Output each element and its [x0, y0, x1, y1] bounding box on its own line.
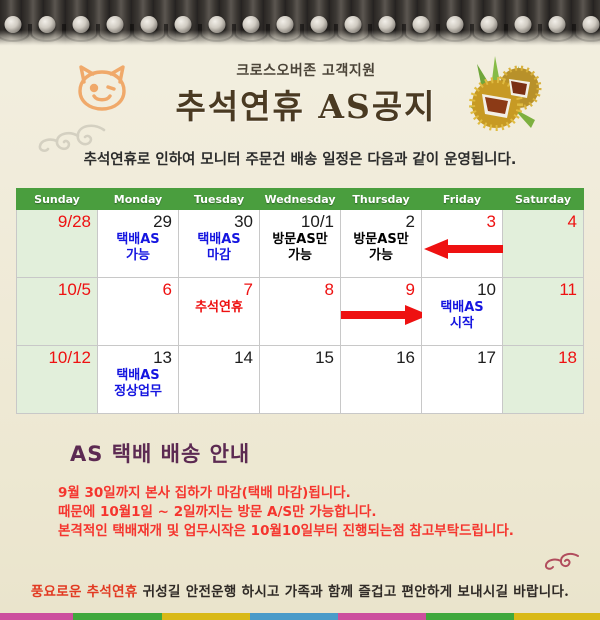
- calendar-day-cell[interactable]: 10/5: [17, 278, 98, 346]
- calendar-header-row: SundayMondayTuesdayWednesdayThursdayFrid…: [17, 189, 584, 210]
- calendar-day-cell[interactable]: 4: [503, 210, 584, 278]
- calendar-day-cell[interactable]: 2방문AS만가능: [341, 210, 422, 278]
- calendar-day-note: 마감: [185, 248, 253, 264]
- calendar-day-cell[interactable]: 13택배AS정상업무: [98, 346, 179, 414]
- calendar-day-cell[interactable]: 9/28: [17, 210, 98, 278]
- calendar-day-number: 17: [428, 348, 496, 368]
- calendar-week-row: 9/2829택배AS가능30택배AS마감10/1방문AS만가능2방문AS만가능3…: [17, 210, 584, 278]
- color-bar-segment: [426, 613, 514, 620]
- calendar-day-number: 6: [104, 280, 172, 300]
- calendar-day-number: 2: [347, 212, 415, 232]
- calendar-day-note: 시작: [428, 316, 496, 332]
- notice-heading: AS 택배 배송 안내: [70, 438, 250, 468]
- calendar-day-cell[interactable]: 16: [341, 346, 422, 414]
- calendar-day-number: 9: [347, 280, 415, 300]
- notice-line: 때문에 10월1일 ~ 2일까지는 방문 A/S만 가능합니다.: [58, 503, 578, 522]
- korean-roof-tiles-banner: [0, 0, 600, 46]
- calendar-day-note: 택배AS: [428, 300, 496, 316]
- calendar-day-number: 14: [185, 348, 253, 368]
- holiday-calendar: SundayMondayTuesdayWednesdayThursdayFrid…: [16, 188, 584, 414]
- calendar-day-cell[interactable]: 9: [341, 278, 422, 346]
- notice-line: 본격적인 택배재개 및 업무시작은 10월10일부터 진행되는점 참고부탁드립니…: [58, 522, 578, 541]
- calendar-day-note: 택배AS: [104, 368, 172, 384]
- calendar-day-note: 택배AS: [104, 232, 172, 248]
- calendar-table: SundayMondayTuesdayWednesdayThursdayFrid…: [16, 188, 584, 414]
- calendar-col-header-thursday: Thursday: [341, 189, 422, 210]
- calendar-day-number: 10/5: [23, 280, 91, 300]
- calendar-day-cell[interactable]: 14: [179, 346, 260, 414]
- intro-sentence: 추석연휴로 인하여 모니터 주문건 배송 일정은 다음과 같이 운영됩니다.: [0, 148, 600, 169]
- calendar-day-note: 추석연휴: [185, 300, 253, 316]
- notice-body: 9월 30일까지 본사 집하가 마감(택배 마감)됩니다.때문에 10월1일 ~…: [58, 484, 578, 541]
- page-title: 추석연휴 AS공지: [0, 80, 600, 128]
- calendar-day-number: 11: [509, 280, 577, 300]
- calendar-day-number: 30: [185, 212, 253, 232]
- arrow-left-icon: [422, 238, 502, 248]
- color-bar-segment: [250, 613, 338, 620]
- calendar-day-number: 13: [104, 348, 172, 368]
- calendar-col-header-friday: Friday: [422, 189, 503, 210]
- calendar-day-note: 방문AS만: [266, 232, 334, 248]
- calendar-day-cell[interactable]: 8: [260, 278, 341, 346]
- color-bar-segment: [73, 613, 162, 620]
- calendar-day-cell[interactable]: 3: [422, 210, 503, 278]
- footer-color-bar: [0, 613, 600, 620]
- color-bar-segment: [162, 613, 250, 620]
- calendar-day-cell[interactable]: 18: [503, 346, 584, 414]
- calendar-day-cell[interactable]: 10/1방문AS만가능: [260, 210, 341, 278]
- calendar-day-number: 3: [428, 212, 496, 232]
- roof-bottom-fade: [0, 30, 600, 46]
- page-header: 크로스오버존 고객지원 추석연휴 AS공지: [0, 46, 600, 148]
- calendar-day-cell[interactable]: 7추석연휴: [179, 278, 260, 346]
- header-subtitle: 크로스오버존 고객지원: [0, 60, 600, 80]
- calendar-day-note: 가능: [104, 248, 172, 264]
- calendar-day-cell[interactable]: 17: [422, 346, 503, 414]
- calendar-body: 9/2829택배AS가능30택배AS마감10/1방문AS만가능2방문AS만가능3…: [17, 210, 584, 414]
- color-bar-segment: [0, 613, 73, 620]
- calendar-day-cell[interactable]: 10/12: [17, 346, 98, 414]
- calendar-col-header-wednesday: Wednesday: [260, 189, 341, 210]
- calendar-day-cell[interactable]: 15: [260, 346, 341, 414]
- calendar-week-row: 10/1213택배AS정상업무1415161718: [17, 346, 584, 414]
- calendar-col-header-sunday: Sunday: [17, 189, 98, 210]
- calendar-day-number: 10: [428, 280, 496, 300]
- calendar-col-header-saturday: Saturday: [503, 189, 584, 210]
- calendar-day-cell[interactable]: 30택배AS마감: [179, 210, 260, 278]
- calendar-day-number: 8: [266, 280, 334, 300]
- calendar-day-number: 18: [509, 348, 577, 368]
- notice-page: 크로스오버존 고객지원 추석연휴 AS공지 추석연휴로 인하여 모니터 주문건 …: [0, 0, 600, 620]
- calendar-day-cell[interactable]: 11: [503, 278, 584, 346]
- calendar-day-note: 방문AS만: [347, 232, 415, 248]
- calendar-day-note: 가능: [347, 248, 415, 264]
- calendar-day-number: 29: [104, 212, 172, 232]
- calendar-day-cell[interactable]: 6: [98, 278, 179, 346]
- calendar-day-number: 7: [185, 280, 253, 300]
- calendar-day-number: 4: [509, 212, 577, 232]
- footer-greeting: 풍요로운 추석연휴 귀성길 안전운행 하시고 가족과 함께 즐겁고 편안하게 보…: [0, 580, 600, 600]
- calendar-day-number: 10/12: [23, 348, 91, 368]
- calendar-day-note: 가능: [266, 248, 334, 264]
- footer-greeting-rest: 귀성길 안전운행 하시고 가족과 함께 즐겁고 편안하게 보내시길 바랍니다.: [138, 584, 570, 600]
- calendar-day-cell[interactable]: 10택배AS시작: [422, 278, 503, 346]
- calendar-col-header-tuesday: Tuesday: [179, 189, 260, 210]
- calendar-col-header-monday: Monday: [98, 189, 179, 210]
- notice-line: 9월 30일까지 본사 집하가 마감(택배 마감)됩니다.: [58, 484, 578, 503]
- footer-greeting-highlight: 풍요로운 추석연휴: [31, 584, 138, 600]
- calendar-day-cell[interactable]: 29택배AS가능: [98, 210, 179, 278]
- calendar-week-row: 10/567추석연휴8910택배AS시작11: [17, 278, 584, 346]
- color-bar-segment: [514, 613, 600, 620]
- calendar-day-note: 정상업무: [104, 384, 172, 400]
- cloud-swirl-icon: [540, 552, 580, 574]
- calendar-day-note: 택배AS: [185, 232, 253, 248]
- calendar-day-number: 9/28: [23, 212, 91, 232]
- color-bar-segment: [338, 613, 426, 620]
- calendar-day-number: 15: [266, 348, 334, 368]
- arrow-right-icon: [341, 304, 421, 314]
- calendar-day-number: 16: [347, 348, 415, 368]
- calendar-day-number: 10/1: [266, 212, 334, 232]
